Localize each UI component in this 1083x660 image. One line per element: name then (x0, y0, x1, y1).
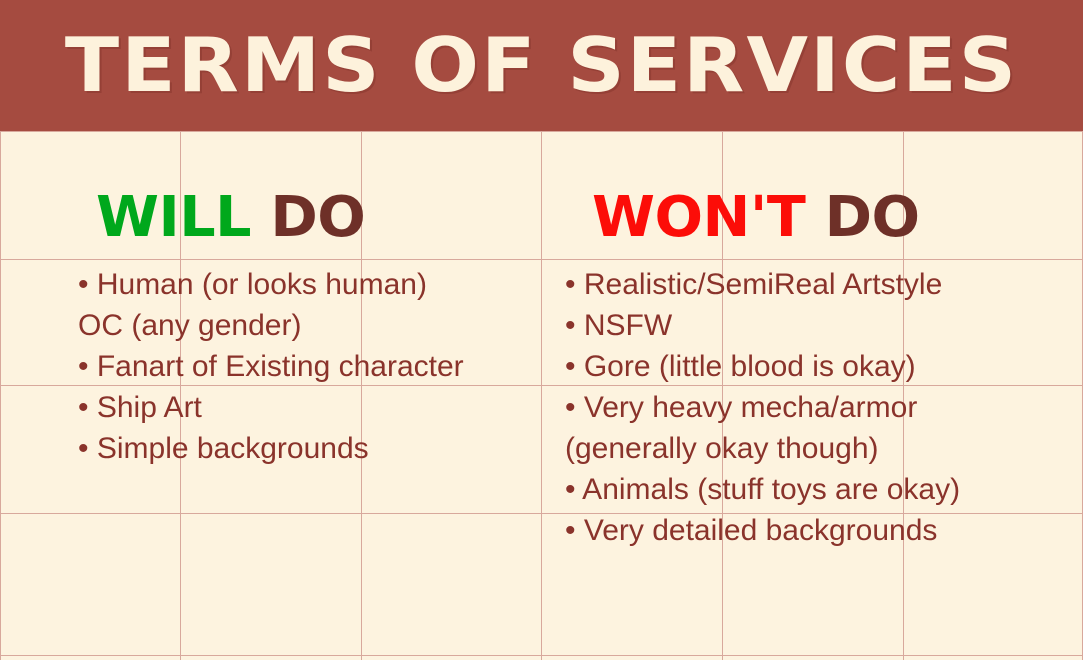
list-item: • Ship Art (78, 387, 464, 428)
wont-do-heading: WON'T DO (592, 190, 920, 246)
will-do-heading-plain: DO (270, 185, 365, 250)
list-item: • Very heavy mecha/armor (565, 387, 960, 428)
list-item: • Simple backgrounds (78, 428, 464, 469)
list-item: • Realistic/SemiReal Artstyle (565, 264, 960, 305)
list-item: • Human (or looks human) (78, 264, 464, 305)
list-item: • Animals (stuff toys are okay) (565, 469, 960, 510)
will-do-heading: WILL DO (96, 190, 365, 246)
wont-do-heading-plain: DO (825, 185, 920, 250)
wont-do-list: • Realistic/SemiReal Artstyle • NSFW • G… (565, 264, 960, 551)
will-do-heading-accent: WILL (96, 185, 251, 250)
header-banner: TERMS OF SERVICES (0, 0, 1083, 131)
page-title: TERMS OF SERVICES (0, 0, 1083, 131)
grid-horizontal-line (0, 259, 1083, 260)
list-item: • Very detailed backgrounds (565, 510, 960, 551)
list-item: • Gore (little blood is okay) (565, 346, 960, 387)
list-item: (generally okay though) (565, 428, 960, 469)
grid-horizontal-line (0, 131, 1083, 132)
grid-vertical-line (541, 131, 542, 660)
grid-vertical-line (0, 131, 1, 660)
wont-do-heading-accent: WON'T (592, 185, 805, 250)
terms-of-services-poster: TERMS OF SERVICES WILL DO WON'T DO • Hum… (0, 0, 1083, 660)
will-do-list: • Human (or looks human) OC (any gender)… (78, 264, 464, 469)
list-item: OC (any gender) (78, 305, 464, 346)
list-item: • NSFW (565, 305, 960, 346)
list-item: • Fanart of Existing character (78, 346, 464, 387)
grid-horizontal-line (0, 655, 1083, 656)
